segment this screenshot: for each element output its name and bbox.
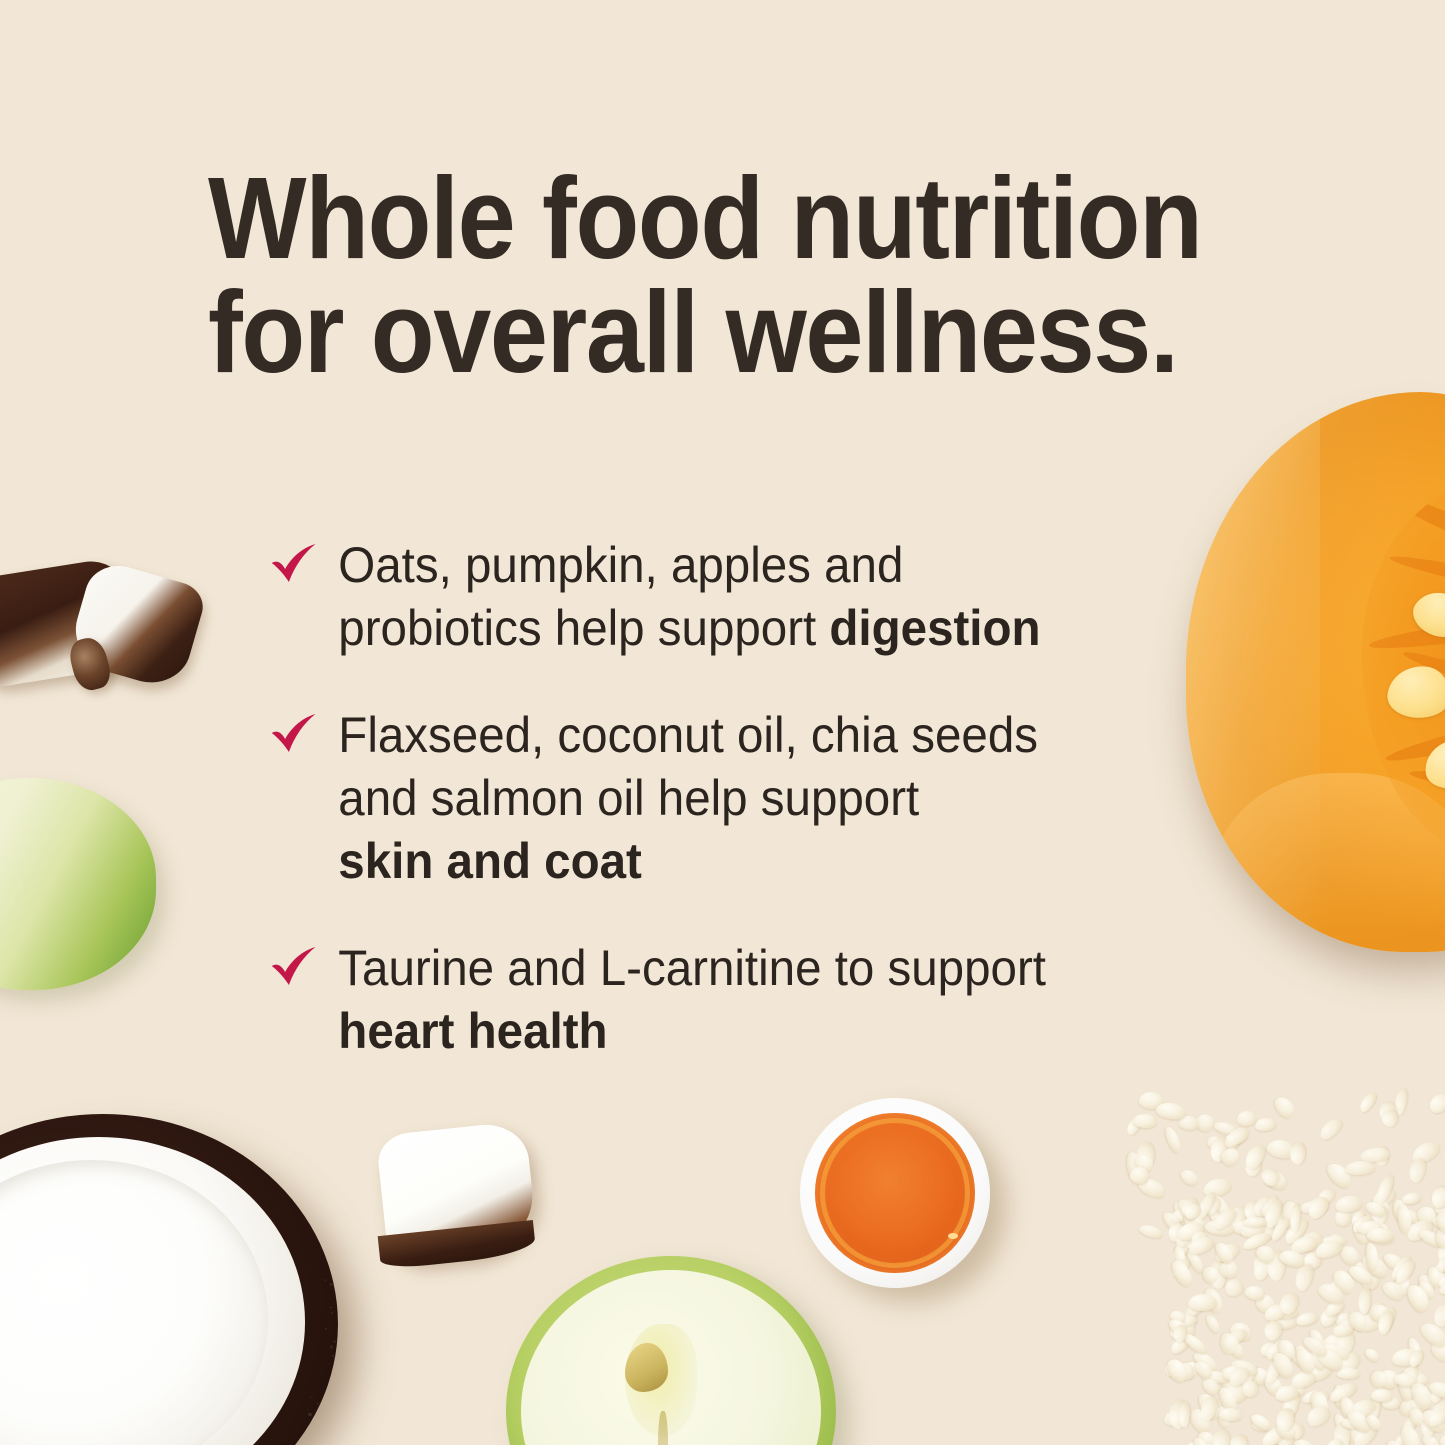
coconut-husk-speck xyxy=(308,1413,311,1416)
oat-flake xyxy=(1138,1223,1164,1240)
coconut-husk-speck xyxy=(331,1312,333,1314)
rolled-oats-photo xyxy=(1112,1100,1445,1445)
oat-flake xyxy=(1406,1156,1428,1184)
headline-line-1: Whole food nutrition xyxy=(208,162,1162,276)
coconut-husk-speck xyxy=(310,1396,312,1398)
benefit-line-2: and salmon oil help support xyxy=(338,767,1161,830)
salmon-oil-bowl-photo xyxy=(800,1098,990,1288)
page-title: Whole food nutrition for overall wellnes… xyxy=(208,162,1162,389)
coconut-husk-speck xyxy=(332,1355,334,1357)
benefit-item-digestion: Oats, pumpkin, apples and probiotics hel… xyxy=(268,534,1161,660)
benefit-line-1: Oats, pumpkin, apples and xyxy=(338,534,1161,597)
benefit-line-2: probiotics help support digestion xyxy=(338,597,1161,660)
coconut-chunk-photo xyxy=(382,1128,532,1258)
oat-flake xyxy=(1179,1401,1191,1428)
oat-flake xyxy=(1163,1124,1184,1154)
apple-seed xyxy=(625,1343,668,1393)
oat-flake xyxy=(1237,1111,1256,1126)
coconut-husk-speck xyxy=(324,1279,327,1282)
oat-flake xyxy=(1155,1100,1187,1122)
benefit-line-2-normal: probiotics help support xyxy=(338,600,829,656)
benefit-line-1: Taurine and L-carnitine to support xyxy=(338,937,1161,1000)
oat-flake xyxy=(1345,1161,1376,1176)
coconut-husk-speck xyxy=(330,1307,332,1309)
coconut-husk-speck xyxy=(306,1406,307,1407)
oat-flake xyxy=(1439,1431,1445,1445)
oat-flake xyxy=(1357,1091,1379,1115)
oat-flake xyxy=(1271,1093,1298,1121)
oat-flake xyxy=(1427,1090,1445,1116)
oat-flake xyxy=(1223,1276,1246,1299)
coconut-husk-speck xyxy=(329,1283,333,1287)
oat-flake xyxy=(1178,1167,1201,1189)
benefits-list: Oats, pumpkin, apples and probiotics hel… xyxy=(268,534,1208,1063)
headline-line-2: for overall wellness. xyxy=(208,276,1162,390)
benefit-item-heart-health: Taurine and L-carnitine to support heart… xyxy=(268,937,1161,1063)
pumpkin-seed-cavity xyxy=(1362,482,1445,852)
oat-flake xyxy=(1316,1116,1345,1144)
oat-flake xyxy=(1218,1407,1242,1421)
coconut-fragment-body xyxy=(66,634,114,693)
oat-flake xyxy=(1230,1434,1249,1445)
coconut-husk-speck xyxy=(317,1402,319,1404)
oat-flake xyxy=(1303,1401,1333,1429)
pumpkin-half-photo xyxy=(1186,392,1445,952)
check-icon xyxy=(268,713,321,759)
oat-flake xyxy=(1254,1116,1277,1131)
oat-flake xyxy=(1401,1192,1422,1206)
benefit-keyword: digestion xyxy=(829,600,1040,656)
benefit-item-skin-and-coat: Flaxseed, coconut oil, chia seeds and sa… xyxy=(268,704,1161,893)
check-icon xyxy=(268,543,321,589)
apple-half-photo xyxy=(506,1256,836,1445)
coconut-husk-speck xyxy=(325,1328,327,1330)
product-benefits-banner: Whole food nutrition for overall wellnes… xyxy=(0,0,1445,1445)
benefit-keyword: heart health xyxy=(338,1000,1161,1063)
pumpkin-cut-face xyxy=(1211,773,1445,941)
coconut-husk-speck xyxy=(307,1409,308,1410)
coconut-half-photo xyxy=(0,1114,338,1445)
oat-flake xyxy=(1204,1312,1223,1335)
pumpkin-flesh xyxy=(1186,392,1445,952)
apple-stem-line xyxy=(658,1411,668,1445)
coconut-husk-speck xyxy=(333,1340,336,1343)
coconut-fragment-photo xyxy=(72,638,108,690)
check-icon xyxy=(268,946,321,992)
apple-slice-photo xyxy=(0,778,156,990)
apple-slice-body xyxy=(0,778,156,990)
oat-flake xyxy=(1289,1143,1306,1166)
coconut-husk-speck xyxy=(330,1345,333,1348)
oat-flake xyxy=(1337,1368,1360,1379)
coconut-husk-speck xyxy=(329,1363,330,1364)
oat-flake xyxy=(1295,1310,1319,1327)
oat-flake xyxy=(1362,1346,1381,1364)
oil-surface xyxy=(815,1113,975,1273)
benefit-line-1: Flaxseed, coconut oil, chia seeds xyxy=(338,704,1161,767)
oil-highlight xyxy=(948,1233,958,1239)
benefit-keyword: skin and coat xyxy=(338,830,1161,893)
coconut-husk-speck xyxy=(282,1440,284,1442)
